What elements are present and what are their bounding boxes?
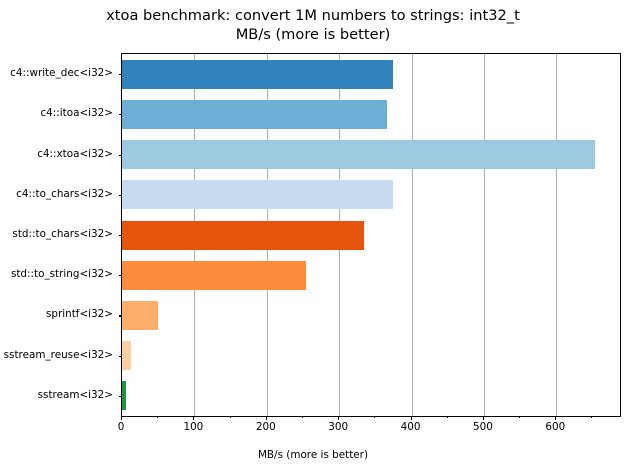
bar — [122, 301, 158, 330]
y-axis-tick-labels: c4::write_dec<i32>c4::itoa<i32>c4::xtoa<… — [0, 53, 113, 415]
y-tick-label-6: sprintf<i32> — [46, 308, 113, 320]
x-tick-label-500: 500 — [473, 421, 493, 433]
y-tick-label-3: c4::to_chars<i32> — [16, 188, 113, 200]
x-tick-label-400: 400 — [401, 421, 421, 433]
x-tick-mark-200 — [266, 416, 267, 420]
x-tick-minor — [230, 416, 231, 418]
bar — [122, 140, 595, 169]
y-tick-mark — [119, 155, 123, 156]
gridline-x-400 — [412, 54, 413, 416]
plot-inner — [122, 54, 620, 416]
y-tick-mark — [119, 114, 123, 115]
gridline-x-500 — [484, 54, 485, 416]
x-tick-minor — [447, 416, 448, 418]
x-tick-minor — [519, 416, 520, 418]
x-tick-mark-400 — [411, 416, 412, 420]
x-tick-label-600: 600 — [545, 421, 565, 433]
y-tick-mark — [119, 74, 123, 75]
x-tick-mark-600 — [555, 416, 556, 420]
bar — [122, 221, 364, 250]
x-tick-mark-0 — [121, 416, 122, 420]
y-tick-label-7: sstream_reuse<i32> — [4, 349, 113, 361]
y-tick-mark — [119, 396, 123, 397]
plot-area — [121, 53, 621, 417]
x-tick-label-0: 0 — [118, 421, 125, 433]
chart-figure: xtoa benchmark: convert 1M numbers to st… — [0, 0, 626, 475]
chart-title: xtoa benchmark: convert 1M numbers to st… — [0, 6, 626, 44]
y-tick-label-5: std::to_string<i32> — [11, 268, 113, 280]
bar — [122, 180, 393, 209]
y-tick-label-8: sstream<i32> — [38, 389, 113, 401]
x-tick-mark-100 — [193, 416, 194, 420]
x-tick-minor — [374, 416, 375, 418]
y-tick-mark — [119, 275, 123, 276]
x-tick-label-100: 100 — [183, 421, 203, 433]
x-tick-minor — [302, 416, 303, 418]
bar — [122, 60, 393, 89]
x-axis-label: MB/s (more is better) — [0, 449, 626, 461]
y-tick-mark — [119, 195, 123, 196]
bar — [122, 100, 387, 129]
y-tick-mark — [119, 356, 123, 357]
bar — [122, 381, 126, 410]
x-tick-mark-500 — [483, 416, 484, 420]
x-tick-mark-300 — [338, 416, 339, 420]
x-tick-label-200: 200 — [256, 421, 276, 433]
bar — [122, 261, 306, 290]
x-tick-minor — [591, 416, 592, 418]
bar — [122, 341, 131, 370]
x-tick-label-300: 300 — [328, 421, 348, 433]
y-tick-mark — [119, 315, 123, 316]
y-tick-label-1: c4::itoa<i32> — [40, 107, 113, 119]
y-tick-mark — [119, 235, 123, 236]
y-tick-label-0: c4::write_dec<i32> — [10, 67, 113, 79]
gridline-x-600 — [556, 54, 557, 416]
y-tick-label-2: c4::xtoa<i32> — [37, 148, 113, 160]
y-tick-label-4: std::to_chars<i32> — [12, 228, 113, 240]
x-tick-minor — [157, 416, 158, 418]
